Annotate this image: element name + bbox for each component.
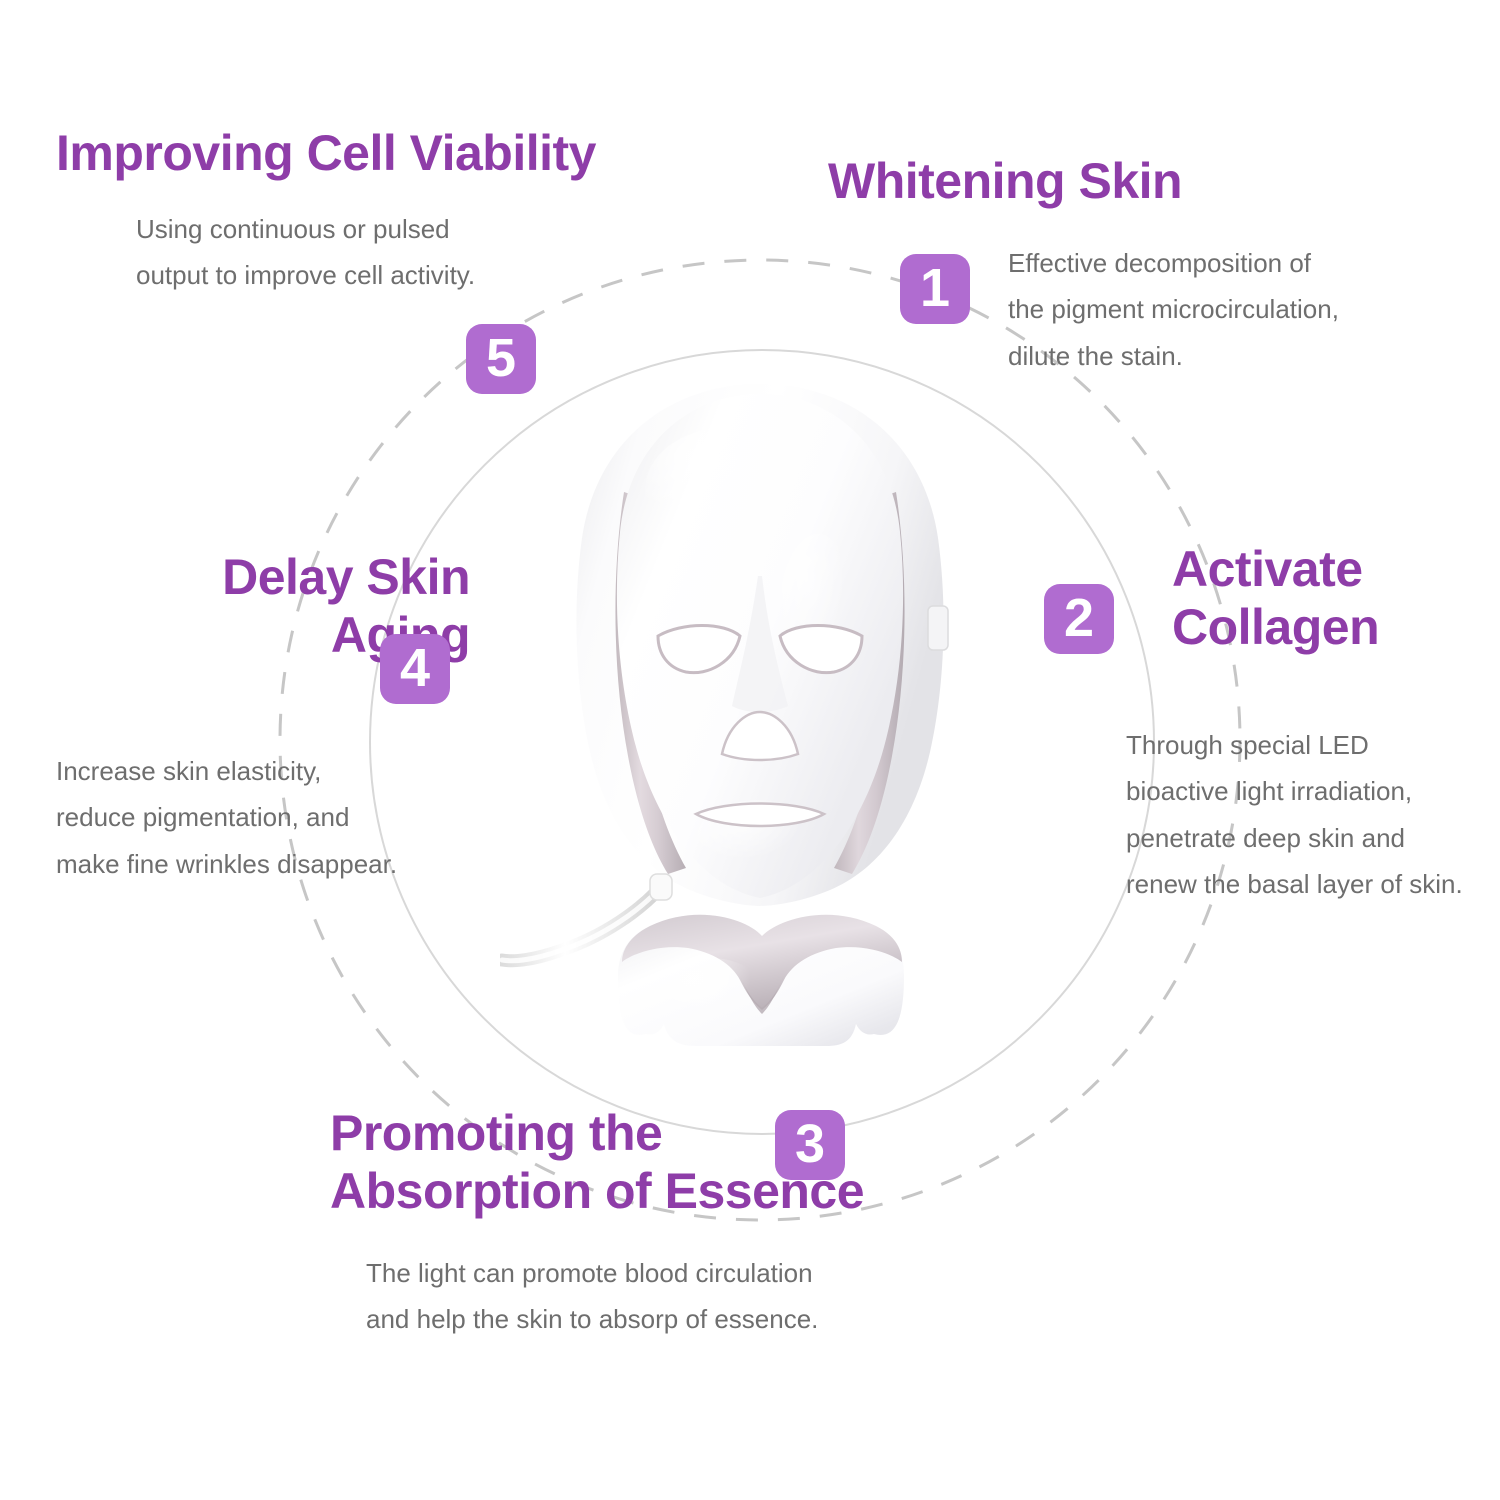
side-control-button xyxy=(928,606,948,650)
feature-badge-5[interactable]: 5 xyxy=(466,324,536,394)
feature-body-promoting-absorption-of-essence: The light can promote blood circulation … xyxy=(366,1250,818,1343)
infographic-page: Improving Cell Viability Using continuou… xyxy=(0,0,1500,1500)
forehead-gloss xyxy=(645,428,805,552)
feature-body-delay-skin-aging: Increase skin elasticity, reduce pigment… xyxy=(56,748,397,887)
feature-title-improving-cell-viability: Improving Cell Viability xyxy=(56,124,596,182)
feature-body-improving-cell-viability: Using continuous or pulsed output to imp… xyxy=(136,206,475,299)
feature-badge-2[interactable]: 2 xyxy=(1044,584,1114,654)
feature-badge-4[interactable]: 4 xyxy=(380,634,450,704)
feature-badge-1[interactable]: 1 xyxy=(900,254,970,324)
feature-title-activate-collagen: Activate Collagen xyxy=(1172,540,1379,656)
feature-body-activate-collagen: Through special LED bioactive light irra… xyxy=(1126,722,1463,907)
neck-gloss xyxy=(652,958,768,1038)
feature-body-whitening-skin: Effective decomposition of the pigment m… xyxy=(1008,240,1339,379)
product-image xyxy=(500,370,1020,1050)
cable-connector xyxy=(650,874,672,900)
feature-title-whitening-skin: Whitening Skin xyxy=(828,152,1182,210)
feature-badge-3[interactable]: 3 xyxy=(775,1110,845,1180)
cheek-gloss xyxy=(778,534,858,706)
